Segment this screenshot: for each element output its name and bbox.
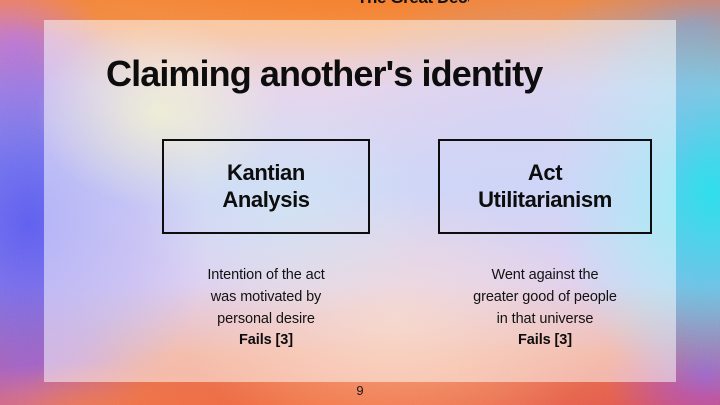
- body-line-2: was motivated by: [211, 289, 321, 305]
- verdict-badge: Fails [3]: [438, 330, 652, 352]
- body-line-1: Went against the: [492, 267, 599, 283]
- concept-box-label-line1: Kantian: [227, 160, 305, 185]
- verdict-badge: Fails [3]: [162, 330, 370, 352]
- concept-box-label-line2: Utilitarianism: [478, 187, 612, 212]
- concept-body-act-utilitarianism: Went against the greater good of people …: [438, 265, 652, 352]
- concept-box-act-utilitarianism: Act Utilitarianism: [438, 139, 652, 234]
- concept-column-kantian: Kantian Analysis Intention of the act wa…: [162, 139, 370, 352]
- page-title: Claiming another's identity: [106, 53, 542, 95]
- body-line-1: Intention of the act: [207, 267, 324, 283]
- concept-box-label: Kantian Analysis: [216, 160, 315, 214]
- content-panel: Claiming another's identity Kantian Anal…: [44, 20, 676, 382]
- concept-box-kantian: Kantian Analysis: [162, 139, 370, 234]
- body-line-3: in that universe: [497, 311, 594, 327]
- body-line-2: greater good of people: [473, 289, 617, 305]
- clipped-header-text: The Great Deceit: [357, 0, 469, 9]
- concept-column-act-utilitarianism: Act Utilitarianism Went against the grea…: [438, 139, 652, 352]
- concept-box-label-line2: Analysis: [222, 187, 309, 212]
- page-number: 9: [0, 383, 720, 398]
- concept-box-label: Act Utilitarianism: [472, 160, 618, 214]
- body-line-3: personal desire: [217, 311, 315, 327]
- presentation-slide: The Great Deceit Claiming another's iden…: [0, 0, 720, 405]
- concept-body-kantian: Intention of the act was motivated by pe…: [162, 265, 370, 352]
- concept-box-label-line1: Act: [528, 160, 562, 185]
